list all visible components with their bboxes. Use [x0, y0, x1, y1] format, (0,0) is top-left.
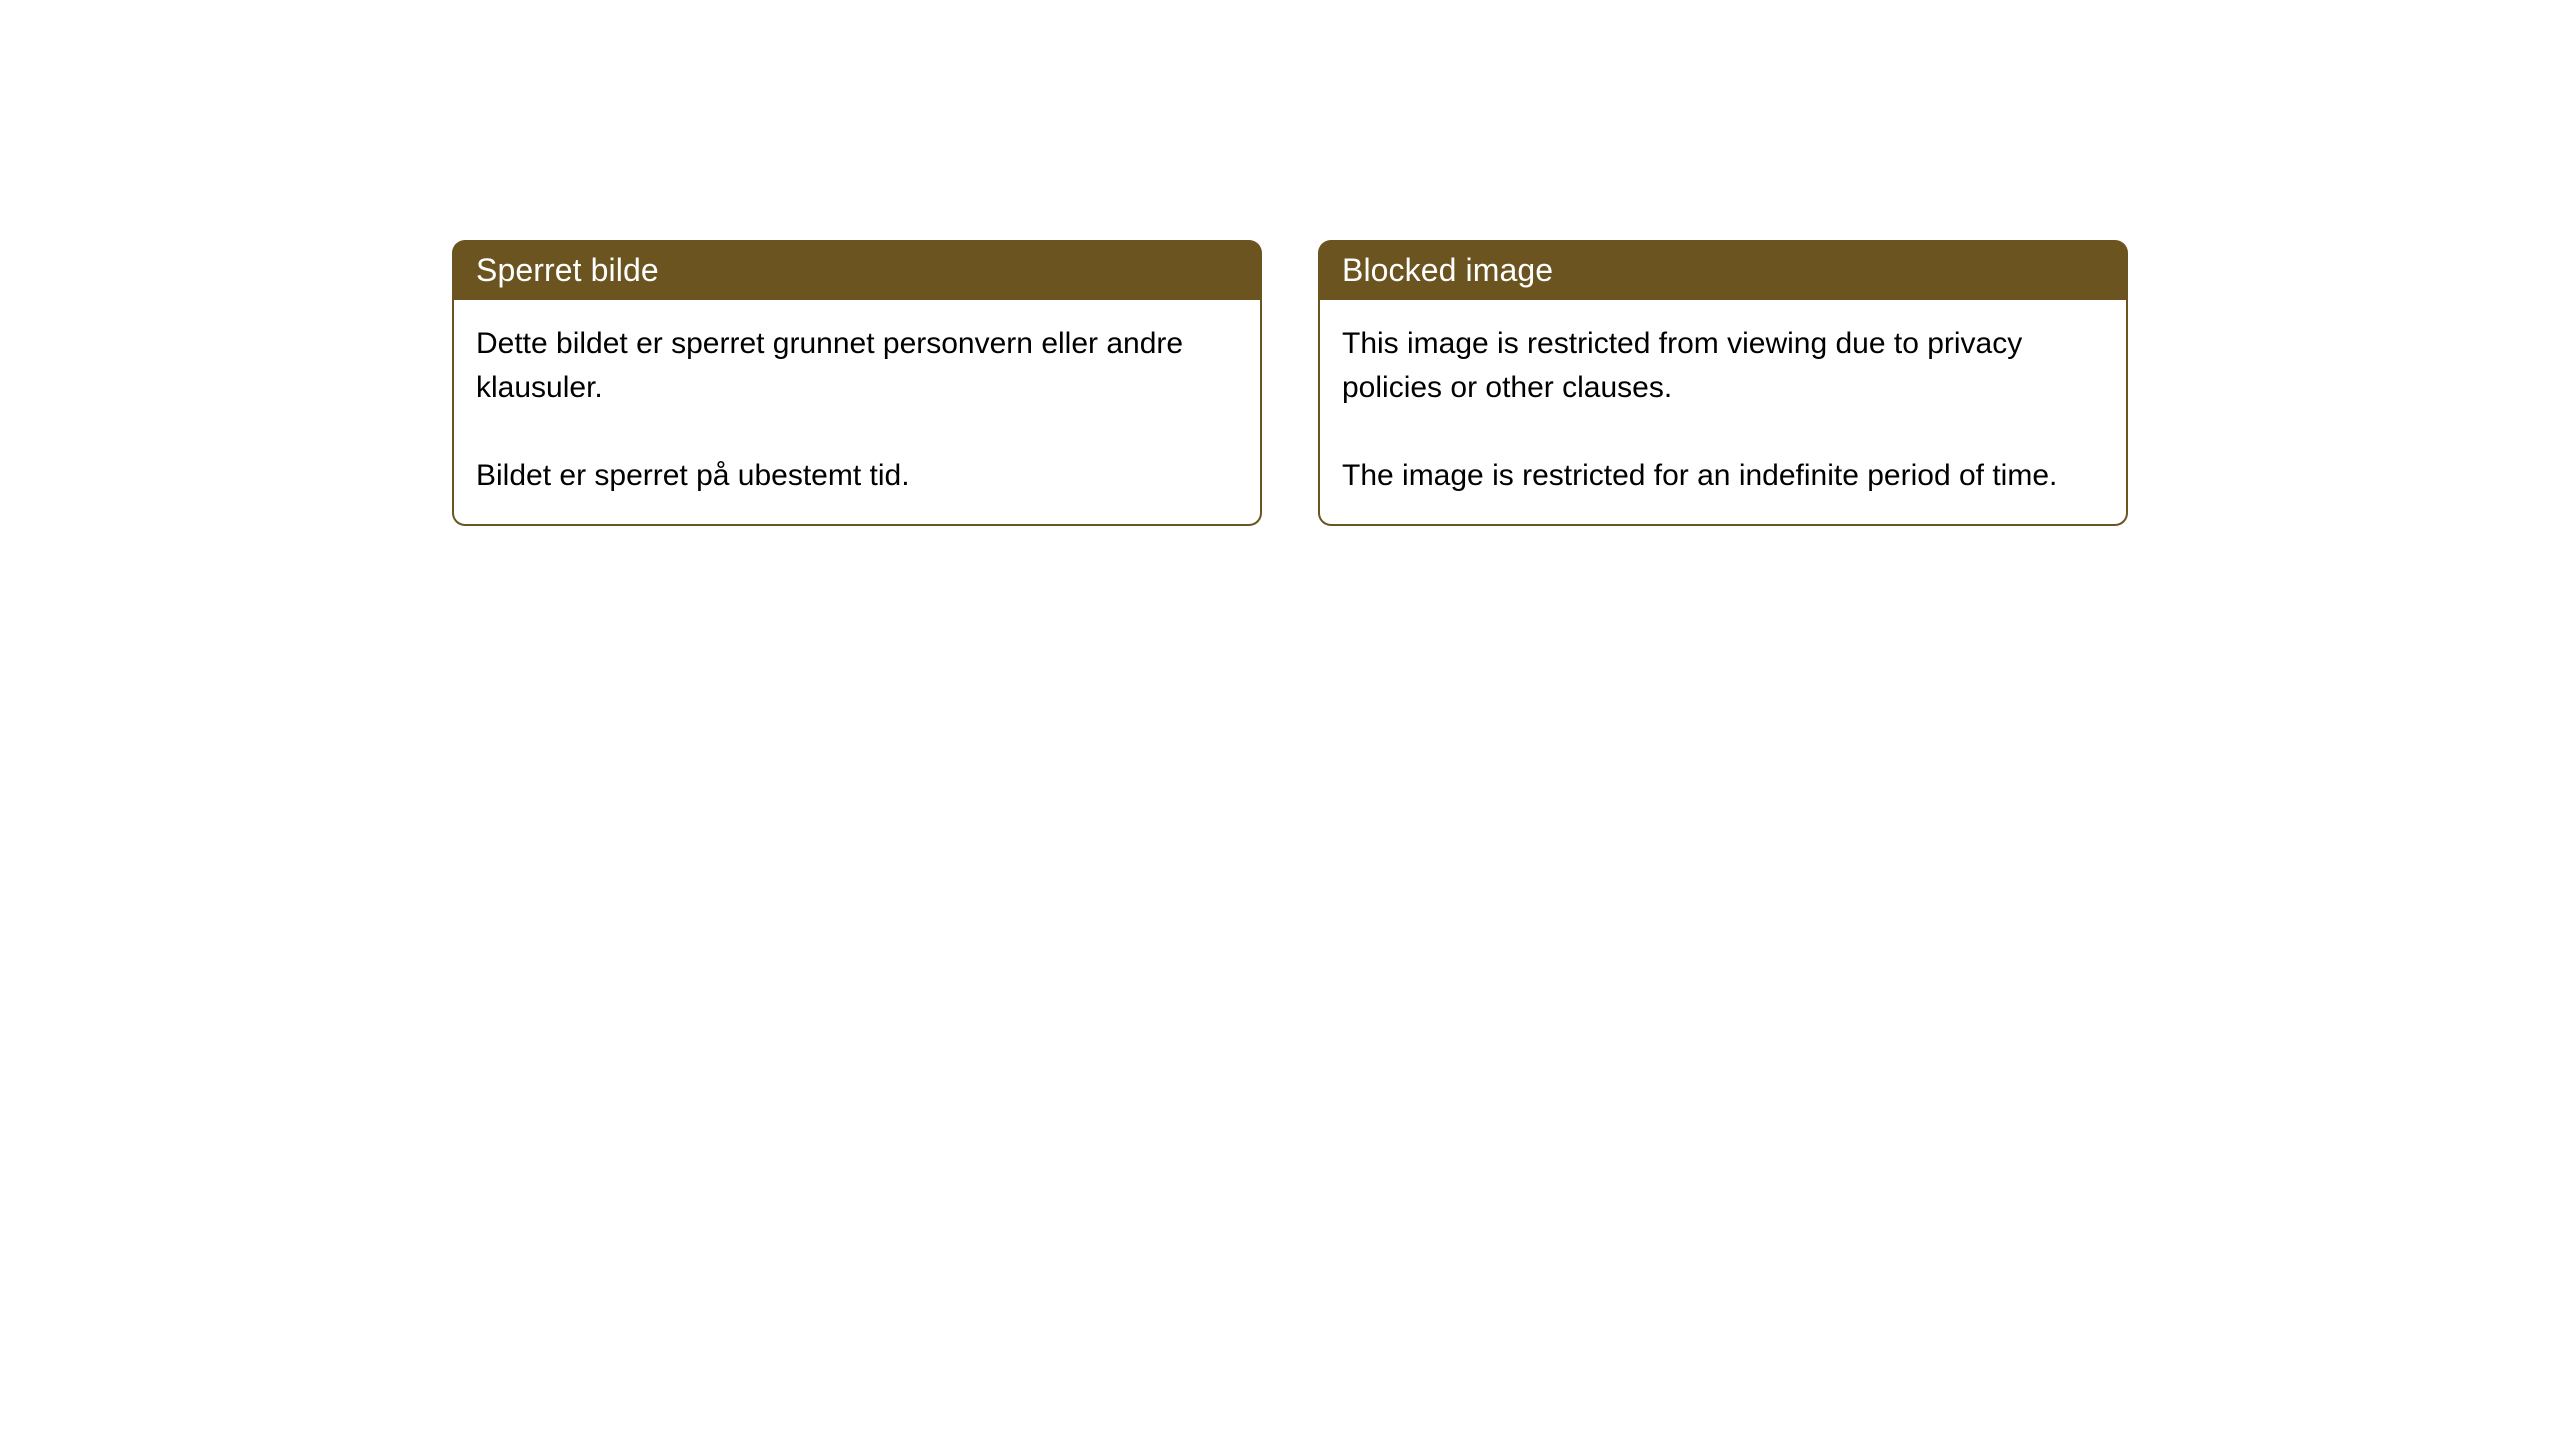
- card-title-norwegian: Sperret bilde: [476, 252, 659, 288]
- card-body-english: This image is restricted from viewing du…: [1318, 300, 2128, 526]
- card-paragraph-duration-norwegian: Bildet er sperret på ubestemt tid.: [476, 454, 1216, 498]
- card-paragraph-privacy-norwegian: Dette bildet er sperret grunnet personve…: [476, 322, 1216, 410]
- card-header-norwegian: Sperret bilde: [452, 240, 1262, 300]
- card-paragraph-duration-english: The image is restricted for an indefinit…: [1342, 454, 2082, 498]
- card-paragraph-privacy-english: This image is restricted from viewing du…: [1342, 322, 2082, 410]
- card-header-english: Blocked image: [1318, 240, 2128, 300]
- page-root: Sperret bilde Dette bildet er sperret gr…: [0, 0, 2560, 1440]
- blocked-image-card-norwegian: Sperret bilde Dette bildet er sperret gr…: [452, 240, 1262, 526]
- blocked-image-notice-group: Sperret bilde Dette bildet er sperret gr…: [452, 240, 2128, 526]
- card-title-english: Blocked image: [1342, 252, 1553, 288]
- blocked-image-card-english: Blocked image This image is restricted f…: [1318, 240, 2128, 526]
- card-body-norwegian: Dette bildet er sperret grunnet personve…: [452, 300, 1262, 526]
